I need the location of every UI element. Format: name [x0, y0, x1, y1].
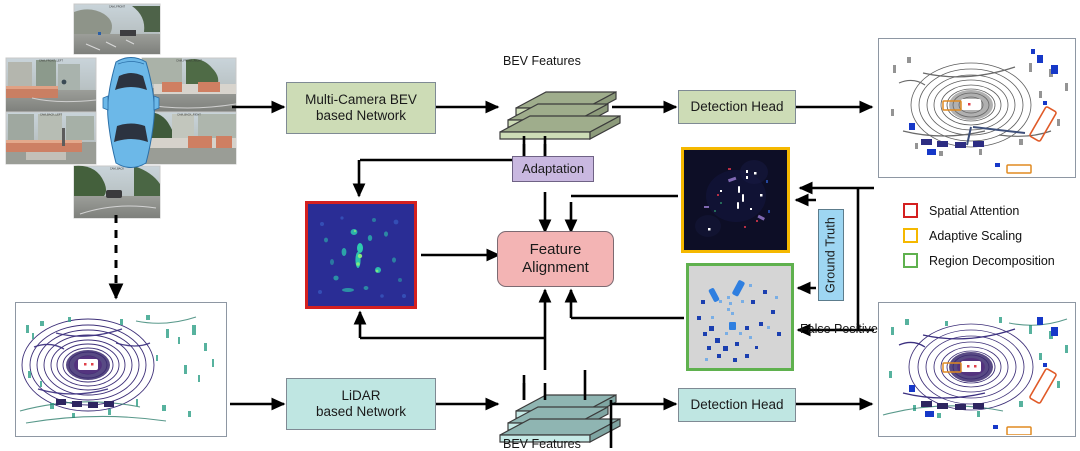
legend-item-region-decomposition: Region Decomposition	[903, 253, 1055, 268]
multi-camera-input-cluster: CAM_FRONT CAM_FRONT_LEFT	[2, 0, 260, 225]
false-positive-label: False Positive	[800, 322, 878, 336]
ground-truth-label: Ground Truth	[824, 217, 839, 293]
legend-label-adaptive-scaling: Adaptive Scaling	[929, 229, 1022, 243]
lidar-network-label-line2: based Network	[316, 404, 406, 420]
camera-detection-result-panel	[878, 38, 1076, 178]
detection-head-bottom-node[interactable]: Detection Head	[678, 388, 796, 422]
diagram-canvas: CAM_FRONT CAM_FRONT_LEFT	[0, 0, 1080, 449]
svg-text:CAM_BACK_LEFT: CAM_BACK_LEFT	[40, 113, 62, 117]
legend-label-spatial-attention: Spatial Attention	[929, 204, 1019, 218]
bev-features-stack-top	[492, 72, 622, 144]
camera-network-label-line2: based Network	[316, 108, 406, 124]
svg-text:CAM_FRONT_LEFT: CAM_FRONT_LEFT	[39, 59, 63, 63]
spatial-attention-panel	[305, 201, 417, 309]
detection-head-bottom-label: Detection Head	[690, 397, 783, 413]
legend-swatch-spatial-attention	[903, 203, 918, 218]
detection-head-top-label: Detection Head	[690, 99, 783, 115]
adaptation-label: Adaptation	[522, 161, 584, 176]
feature-alignment-label-line1: Feature	[530, 241, 582, 259]
adaptation-node[interactable]: Adaptation	[512, 156, 594, 182]
camera-network-label-line1: Multi-Camera BEV	[305, 92, 417, 108]
legend-label-region-decomposition: Region Decomposition	[929, 254, 1055, 268]
lidar-network-label-line1: LiDAR	[341, 388, 380, 404]
lidar-input-panel	[15, 302, 227, 437]
legend-item-spatial-attention: Spatial Attention	[903, 203, 1055, 218]
feature-alignment-label-line2: Alignment	[522, 259, 589, 277]
adaptive-scaling-panel	[681, 147, 790, 253]
svg-text:CAM_FRONT: CAM_FRONT	[109, 5, 126, 9]
feature-alignment-node[interactable]: Feature Alignment	[497, 231, 614, 287]
ground-truth-node[interactable]: Ground Truth	[818, 209, 844, 301]
lidar-network-node[interactable]: LiDAR based Network	[286, 378, 436, 430]
svg-text:CAM_BACK_RIGHT: CAM_BACK_RIGHT	[177, 113, 201, 117]
svg-text:CAM_BACK: CAM_BACK	[110, 167, 125, 171]
legend-swatch-region-decomposition	[903, 253, 918, 268]
detection-head-top-node[interactable]: Detection Head	[678, 90, 796, 124]
legend: Spatial Attention Adaptive Scaling Regio…	[903, 203, 1055, 278]
bev-features-top-label: BEV Features	[503, 54, 581, 68]
svg-text:CAM_FRONT_RIGHT: CAM_FRONT_RIGHT	[176, 59, 202, 63]
legend-swatch-adaptive-scaling	[903, 228, 918, 243]
legend-item-adaptive-scaling: Adaptive Scaling	[903, 228, 1055, 243]
multi-camera-bev-network-node[interactable]: Multi-Camera BEV based Network	[286, 82, 436, 134]
lidar-detection-result-panel	[878, 302, 1076, 437]
region-decomposition-panel	[686, 263, 794, 371]
